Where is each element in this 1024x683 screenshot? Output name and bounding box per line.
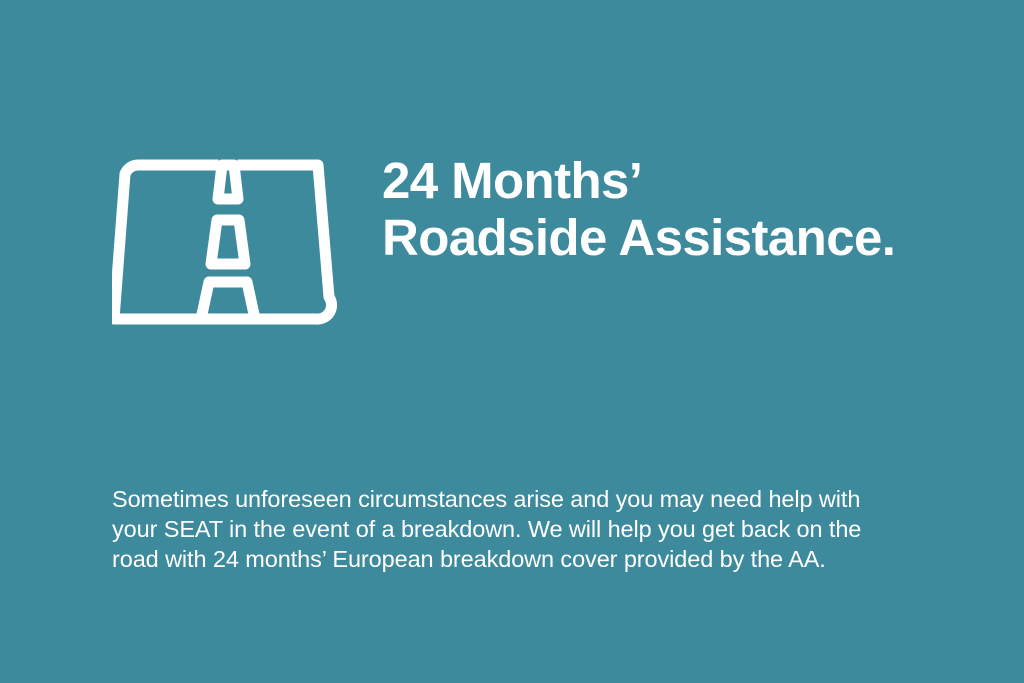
heading-line-1: 24 Months’ [382,152,895,209]
body-line-1: Sometimes unforeseen circumstances arise… [112,484,942,514]
roadside-assistance-promo-card: 24 Months’ Roadside Assistance. Sometime… [0,0,1024,683]
road-icon [112,158,344,326]
body-copy: Sometimes unforeseen circumstances arise… [112,484,942,574]
page-title: 24 Months’ Roadside Assistance. [382,150,895,266]
body-line-3: road with 24 months’ European breakdown … [112,544,942,574]
heading-line-2: Roadside Assistance. [382,209,895,266]
body-line-2: your SEAT in the event of a breakdown. W… [112,514,942,544]
hero-block: 24 Months’ Roadside Assistance. [112,150,895,326]
